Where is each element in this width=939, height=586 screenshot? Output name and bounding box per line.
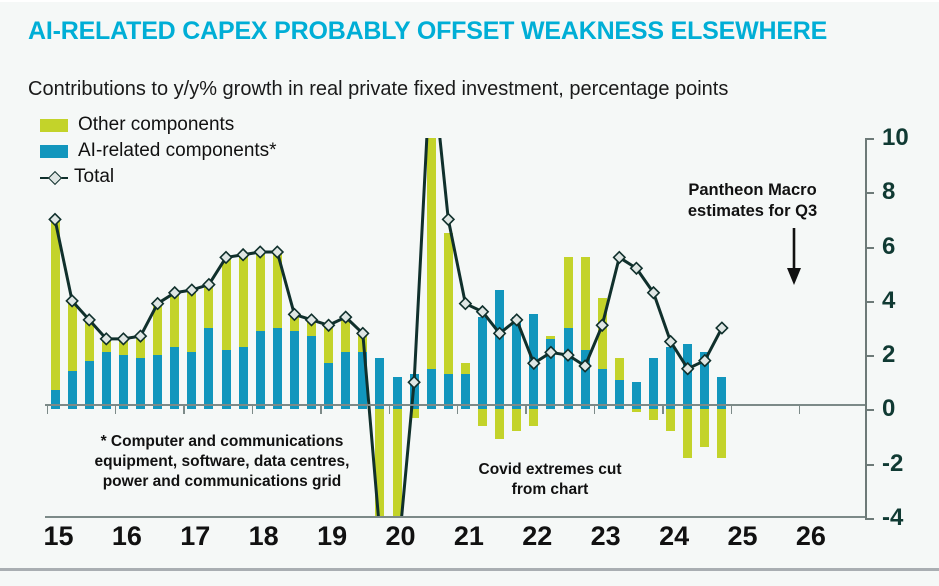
y-axis xyxy=(865,138,867,518)
bar-segment xyxy=(683,409,692,458)
bar-segment xyxy=(68,301,77,372)
bar-segment xyxy=(51,390,60,409)
y-tick-label: 0 xyxy=(882,395,895,423)
x-tick-label: 23 xyxy=(591,521,621,552)
y-tick-label: 8 xyxy=(882,178,895,206)
bar-segment xyxy=(512,409,521,431)
x-tick-label: 21 xyxy=(454,521,484,552)
bar-segment xyxy=(700,352,709,409)
bar-segment xyxy=(136,358,145,410)
y-tick-label: 4 xyxy=(882,287,895,315)
bar-segment xyxy=(700,409,709,447)
bar-segment xyxy=(153,304,162,356)
covid-note: Covid extremes cut from chart xyxy=(470,460,630,500)
bar-segment xyxy=(187,352,196,409)
x-tick xyxy=(389,404,391,414)
bar-segment xyxy=(102,339,111,353)
y-tick-label: 10 xyxy=(882,124,909,152)
bar-segment xyxy=(324,363,333,409)
x-tick xyxy=(252,404,254,414)
top-rule xyxy=(0,0,939,2)
bar-segment xyxy=(256,252,265,331)
chart-page: AI-RELATED CAPEX PROBABLY OFFSET WEAKNES… xyxy=(0,0,939,586)
bar-segment xyxy=(170,347,179,409)
bar-segment xyxy=(581,257,590,349)
bar-segment xyxy=(204,328,213,409)
bar-segment xyxy=(187,290,196,352)
bar-segment xyxy=(649,409,658,420)
bar-segment xyxy=(153,355,162,409)
bar-segment xyxy=(410,409,419,417)
bar-segment xyxy=(529,409,538,425)
x-tick xyxy=(457,404,459,414)
y-tick-label: -4 xyxy=(882,504,903,532)
x-tick xyxy=(799,404,801,414)
chart-subtitle: Contributions to y/y% growth in real pri… xyxy=(28,78,728,101)
bar-segment xyxy=(256,331,265,410)
y-tick xyxy=(865,518,874,520)
x-tick-label: 16 xyxy=(112,521,142,552)
bar-segment xyxy=(666,347,675,409)
legend-item-other[interactable]: Other components xyxy=(40,112,277,138)
bar-segment xyxy=(273,328,282,409)
y-tick xyxy=(865,409,874,411)
bar-segment xyxy=(649,358,658,410)
x-tick-label: 19 xyxy=(317,521,347,552)
x-tick-label: 17 xyxy=(180,521,210,552)
bar-segment xyxy=(324,325,333,363)
bar-segment xyxy=(546,336,555,339)
x-tick-label: 24 xyxy=(659,521,689,552)
x-axis xyxy=(45,516,867,518)
bar-segment xyxy=(239,255,248,347)
x-tick-label: 22 xyxy=(522,521,552,552)
bar-segment xyxy=(427,138,436,369)
x-tick xyxy=(662,404,664,414)
estimate-note: Pantheon Macro estimates for Q3 xyxy=(665,180,840,222)
y-tick xyxy=(865,464,874,466)
bar-segment xyxy=(170,293,179,347)
bar-segment xyxy=(478,409,487,425)
y-tick xyxy=(865,192,874,194)
y-tick-label: 6 xyxy=(882,233,895,261)
bar-segment xyxy=(461,363,470,374)
bar-segment xyxy=(393,409,402,518)
x-tick xyxy=(594,404,596,414)
bar-segment xyxy=(85,361,94,410)
legend-label-other: Other components xyxy=(78,114,234,136)
page-title: AI-RELATED CAPEX PROBABLY OFFSET WEAKNES… xyxy=(28,17,827,46)
bar-segment xyxy=(136,336,145,358)
y-tick-label: 2 xyxy=(882,341,895,369)
y-tick xyxy=(865,138,874,140)
y-tick xyxy=(865,301,874,303)
bar-segment xyxy=(495,290,504,409)
x-tick xyxy=(115,404,117,414)
bar-segment xyxy=(598,298,607,369)
bar-segment xyxy=(375,409,384,518)
x-tick-label: 18 xyxy=(249,521,279,552)
footnote: * Computer and communications equipment,… xyxy=(72,432,372,491)
bar-segment xyxy=(222,350,231,410)
bar-segment xyxy=(717,409,726,458)
y-tick-label: -2 xyxy=(882,450,903,478)
bar-segment xyxy=(495,409,504,439)
bar-segment xyxy=(666,409,675,431)
x-tick xyxy=(47,404,49,414)
y-tick xyxy=(865,247,874,249)
legend-swatch-other xyxy=(40,119,68,132)
bar-segment xyxy=(273,252,282,328)
bar-segment xyxy=(546,339,555,410)
bar-segment xyxy=(307,336,316,409)
x-tick xyxy=(320,404,322,414)
bar-segment xyxy=(307,320,316,336)
x-tick xyxy=(731,404,733,414)
bottom-rule xyxy=(0,568,939,571)
bar-segment xyxy=(444,233,453,374)
bar-segment xyxy=(615,358,624,380)
bar-segment xyxy=(529,314,538,409)
bar-segment xyxy=(119,339,128,355)
bar-segment xyxy=(204,285,213,328)
bar-segment xyxy=(119,355,128,409)
bar-segment xyxy=(564,328,573,409)
down-arrow-icon xyxy=(786,228,802,291)
bar-segment xyxy=(85,320,94,361)
bar-segment xyxy=(102,352,111,409)
bar-segment xyxy=(290,314,299,330)
bar-segment xyxy=(239,347,248,409)
y-tick xyxy=(865,355,874,357)
bar-segment xyxy=(341,317,350,352)
bar-segment xyxy=(478,317,487,409)
bar-segment xyxy=(341,352,350,409)
x-tick-label: 15 xyxy=(43,521,73,552)
bar-segment xyxy=(581,350,590,410)
bar-segment xyxy=(290,331,299,410)
bar-segment xyxy=(375,358,384,410)
x-tick-label: 20 xyxy=(385,521,415,552)
bar-segment xyxy=(683,344,692,409)
x-tick-label: 25 xyxy=(727,521,757,552)
bar-segment xyxy=(358,352,367,409)
x-tick-label: 26 xyxy=(796,521,826,552)
x-tick xyxy=(525,404,527,414)
bar-segment xyxy=(564,257,573,328)
bar-segment xyxy=(358,333,367,352)
bar-segment xyxy=(222,257,231,349)
bar-segment xyxy=(632,409,641,412)
bar-segment xyxy=(512,317,521,409)
x-tick xyxy=(183,404,185,414)
bar-segment xyxy=(51,219,60,390)
